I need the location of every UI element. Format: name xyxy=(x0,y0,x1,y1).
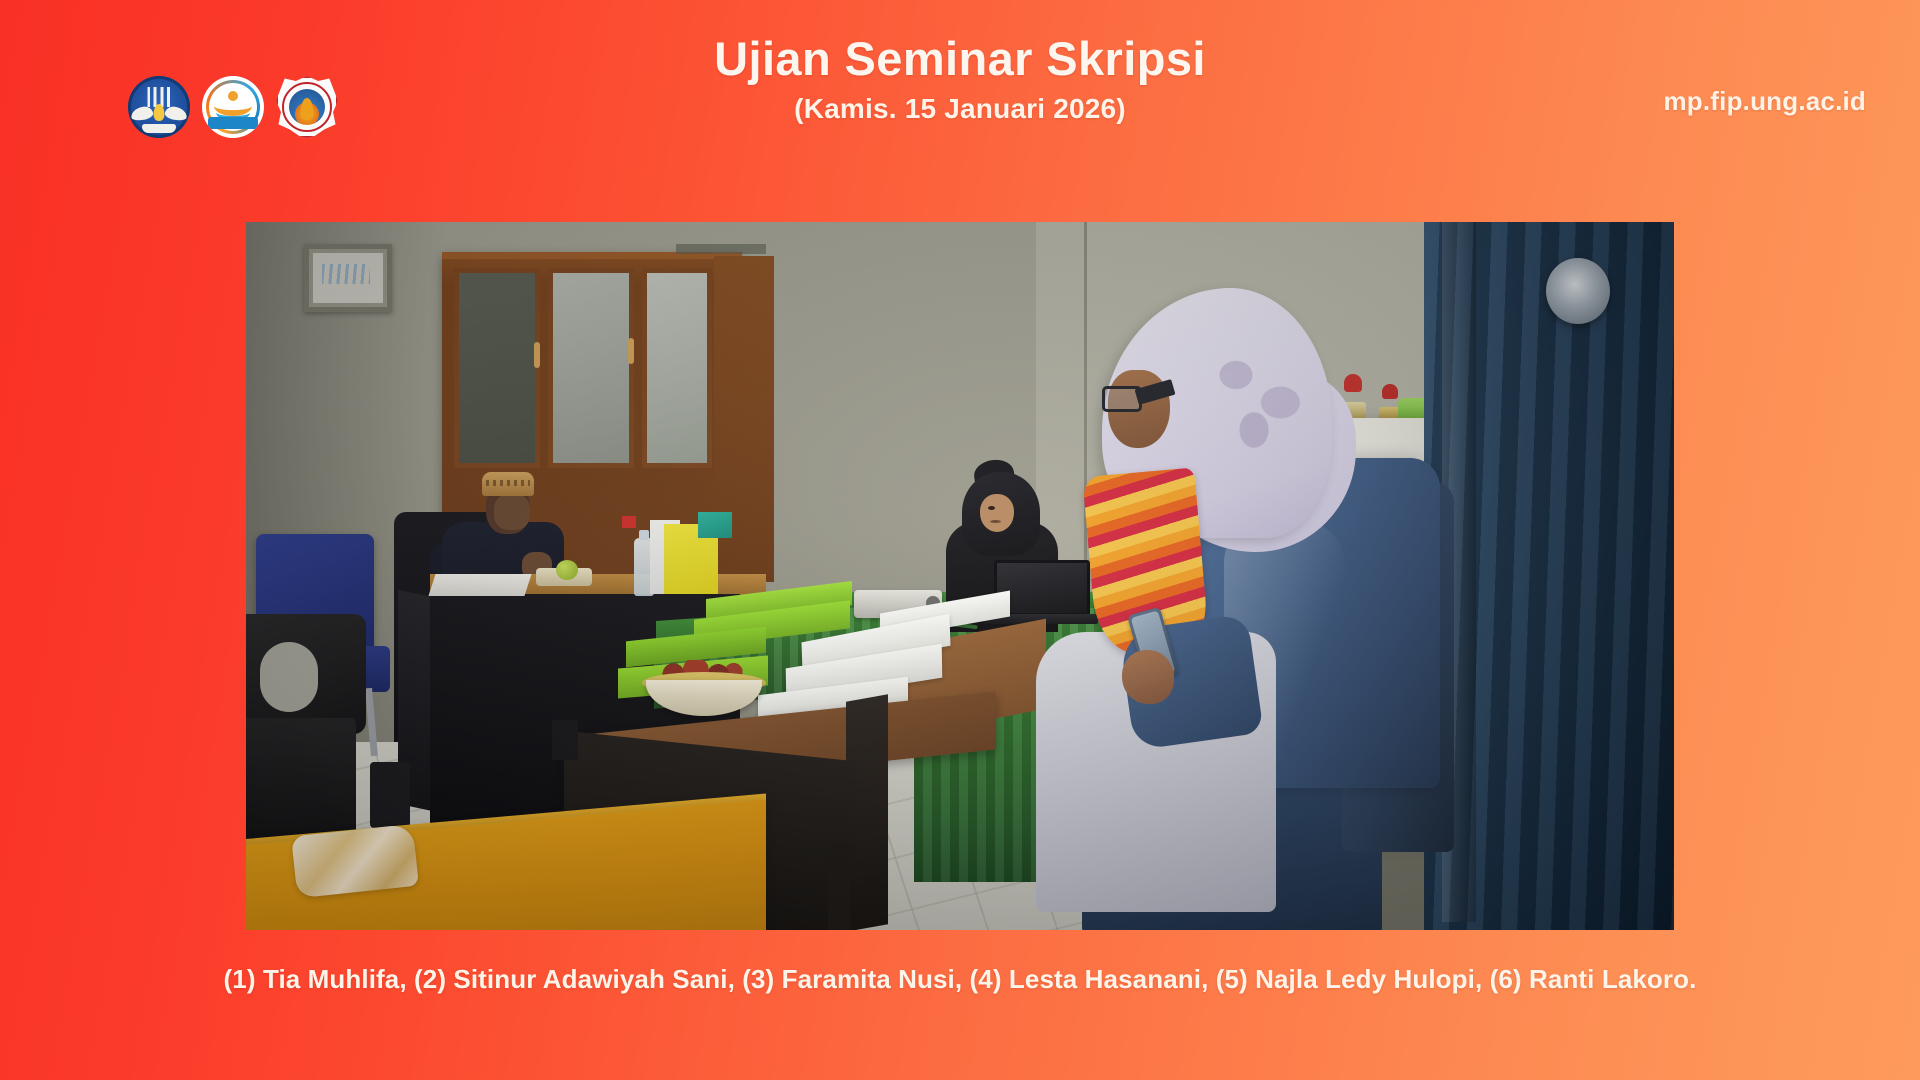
notetaker-eye xyxy=(988,506,995,510)
site-url-label: mp.fip.ung.ac.id xyxy=(1663,86,1866,117)
examiner-traditional-cap xyxy=(482,472,534,496)
notetaker-mouth xyxy=(990,520,1001,523)
student-hand xyxy=(1122,650,1174,704)
cabinet-handle-left xyxy=(534,342,540,368)
wall-picture-content xyxy=(322,264,370,284)
cabinet-door-left xyxy=(454,268,540,468)
event-photo xyxy=(246,222,1674,930)
examiner-desk-papers xyxy=(428,574,531,596)
foreground-dark-object xyxy=(370,762,410,828)
title-block: Ujian Seminar Skripsi (Kamis. 15 Januari… xyxy=(0,34,1920,125)
wooden-table-leg xyxy=(828,842,850,930)
black-chair-cutout xyxy=(260,642,318,712)
header-banner: Ujian Seminar Skripsi (Kamis. 15 Januari… xyxy=(0,0,1920,186)
teal-folder xyxy=(698,512,732,538)
foreground-dark-object-2 xyxy=(552,720,578,760)
cabinet-door-right xyxy=(642,268,712,468)
green-apple xyxy=(556,560,578,580)
page-title: Ujian Seminar Skripsi xyxy=(0,34,1920,84)
page-subtitle-date: (Kamis. 15 Januari 2026) xyxy=(0,93,1920,125)
participants-caption: (1) Tia Muhlifa, (2) Sitinur Adawiyah Sa… xyxy=(0,964,1920,995)
student-hijab-pattern xyxy=(1206,342,1326,452)
examiner-face xyxy=(494,494,530,530)
plastic-bag xyxy=(291,824,419,898)
cabinet-handle-right xyxy=(628,338,634,364)
notetaker-face xyxy=(980,494,1014,532)
curtain-tieback-ornament xyxy=(1546,258,1610,324)
student-glasses xyxy=(1102,382,1174,408)
cabinet-top-accessory xyxy=(676,244,766,254)
red-object xyxy=(622,516,636,528)
logo-book xyxy=(142,124,176,133)
cabinet-door-middle xyxy=(548,268,634,468)
